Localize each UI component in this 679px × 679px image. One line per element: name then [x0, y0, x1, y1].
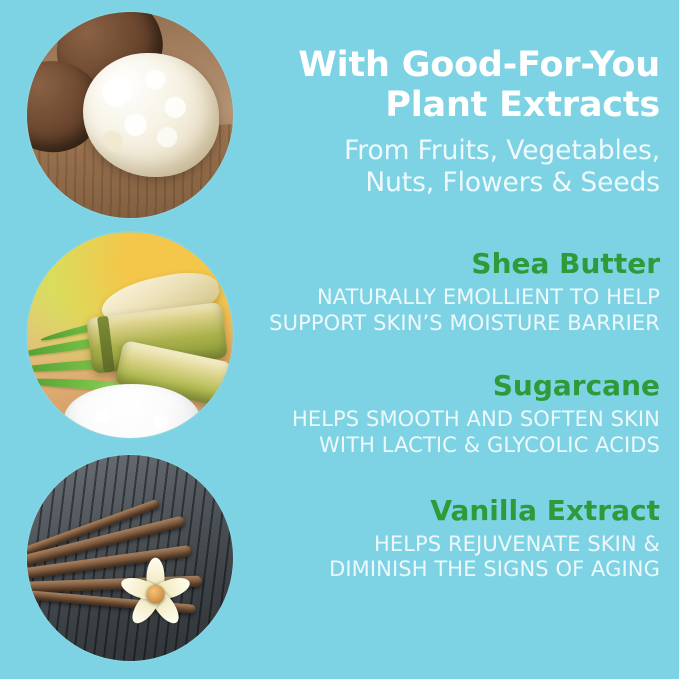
ingredient-description: HELPS SMOOTH AND SOFTEN SKIN WITH LACTIC… — [262, 407, 660, 458]
headline-line-1: With Good-For-You — [262, 46, 660, 86]
ingredient-block-vanilla-extract: Vanilla Extract HELPS REJUVENATE SKIN & … — [262, 495, 660, 583]
plant-extracts-infographic: With Good-For-You Plant Extracts From Fr… — [0, 0, 679, 679]
sugar-pile — [64, 384, 200, 438]
ingredient-description-line-1: HELPS REJUVENATE SKIN & — [262, 532, 660, 558]
copy-column: With Good-For-You Plant Extracts From Fr… — [262, 0, 679, 679]
ingredient-photo-column — [0, 0, 262, 679]
shea-butter-photo-scene — [27, 12, 233, 218]
ingredient-name: Vanilla Extract — [262, 495, 660, 527]
sugarcane-photo — [27, 232, 233, 438]
shea-butter-photo — [27, 12, 233, 218]
ingredient-block-shea-butter: Shea Butter NATURALLY EMOLLIENT TO HELP … — [262, 248, 660, 336]
vanilla-flower-icon — [108, 547, 203, 642]
ingredient-description-line-2: DIMINISH THE SIGNS OF AGING — [262, 557, 660, 583]
ingredient-name: Sugarcane — [262, 370, 660, 402]
ingredient-description-line-2: SUPPORT SKIN’S MOISTURE BARRIER — [262, 311, 660, 337]
ingredient-description-line-1: NATURALLY EMOLLIENT TO HELP — [262, 285, 660, 311]
ingredient-name: Shea Butter — [262, 248, 660, 280]
headline-line-2: Plant Extracts — [262, 86, 660, 126]
ingredient-description-line-2: WITH LACTIC & GLYCOLIC ACIDS — [262, 433, 660, 459]
subheadline-line-1: From Fruits, Vegetables, — [262, 135, 660, 167]
vanilla-extract-photo — [27, 455, 233, 661]
ingredient-block-sugarcane: Sugarcane HELPS SMOOTH AND SOFTEN SKIN W… — [262, 370, 660, 458]
ingredient-description: NATURALLY EMOLLIENT TO HELP SUPPORT SKIN… — [262, 285, 660, 336]
ingredient-description-line-1: HELPS SMOOTH AND SOFTEN SKIN — [262, 407, 660, 433]
flower-center — [146, 585, 165, 604]
ingredient-description: HELPS REJUVENATE SKIN & DIMINISH THE SIG… — [262, 532, 660, 583]
sugarcane-photo-scene — [27, 232, 233, 438]
headline: With Good-For-You Plant Extracts — [262, 46, 660, 125]
headline-block: With Good-For-You Plant Extracts From Fr… — [262, 0, 660, 200]
subheadline: From Fruits, Vegetables, Nuts, Flowers &… — [262, 135, 660, 200]
subheadline-line-2: Nuts, Flowers & Seeds — [262, 167, 660, 199]
vanilla-photo-scene — [27, 455, 233, 661]
